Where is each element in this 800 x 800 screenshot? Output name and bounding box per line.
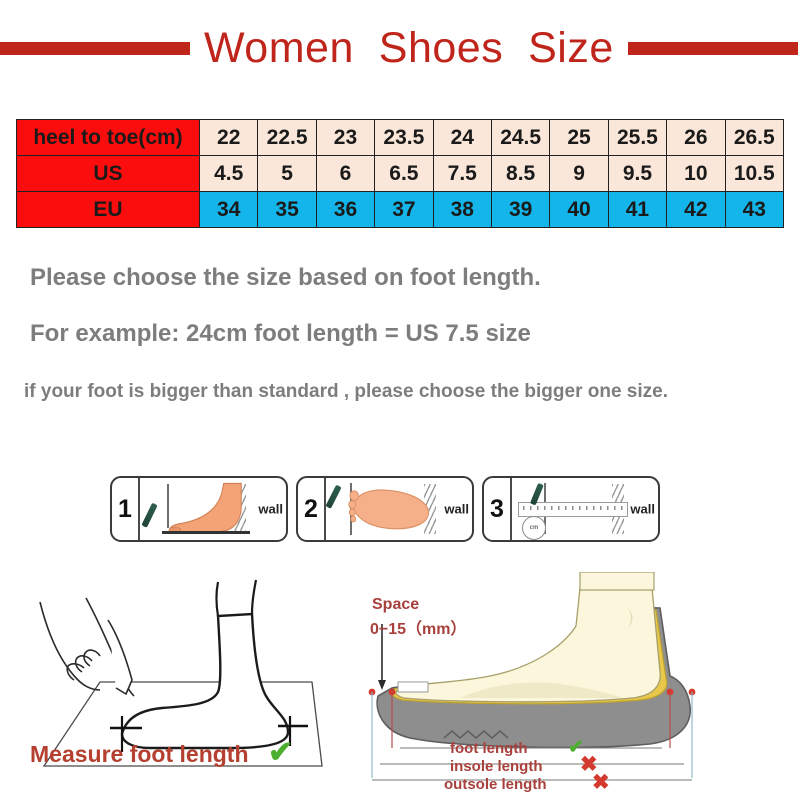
step-panel-1: 1 wall xyxy=(110,476,288,542)
cell-us-8: 10 xyxy=(667,156,725,192)
label-outsole-length: outsole length xyxy=(444,776,547,793)
cell-heel-to-toe-9: 26.5 xyxy=(725,120,783,156)
check-icon: ✔ xyxy=(268,735,293,770)
table-row: EU 34 35 36 37 38 39 40 41 42 43 xyxy=(17,192,784,228)
title-rule-left xyxy=(0,42,190,55)
cell-eu-0: 34 xyxy=(200,192,258,228)
page-title: Women Shoes Size xyxy=(190,27,628,70)
foot-outline xyxy=(122,614,288,748)
cell-heel-to-toe-2: 23 xyxy=(316,120,374,156)
cell-heel-to-toe-4: 24 xyxy=(433,120,491,156)
cell-heel-to-toe-5: 24.5 xyxy=(491,120,549,156)
step-3-illustration: cm wall xyxy=(512,478,658,540)
row-label-us: US xyxy=(17,156,200,192)
finger xyxy=(84,650,100,666)
cell-heel-to-toe-1: 22.5 xyxy=(258,120,316,156)
measure-foot-caption: Measure foot length xyxy=(30,741,249,768)
cell-eu-5: 39 xyxy=(491,192,549,228)
leg-shape xyxy=(580,572,654,590)
row-label-eu: EU xyxy=(17,192,200,228)
space-arrow-head xyxy=(378,680,386,690)
cell-us-3: 6.5 xyxy=(375,156,433,192)
wall-label-3: wall xyxy=(630,502,655,517)
step-number-1: 1 xyxy=(112,478,140,540)
note-bigger-size: if your foot is bigger than standard , p… xyxy=(24,381,668,403)
cell-eu-8: 42 xyxy=(667,192,725,228)
cell-us-5: 8.5 xyxy=(491,156,549,192)
table-row: US 4.5 5 6 6.5 7.5 8.5 9 9.5 10 10.5 xyxy=(17,156,784,192)
size-chart-table: heel to toe(cm) 22 22.5 23 23.5 24 24.5 … xyxy=(16,119,784,228)
step-number-3: 3 xyxy=(484,478,512,540)
step-panel-2: 2 wall xyxy=(296,476,474,542)
step-number-2: 2 xyxy=(298,478,326,540)
ruler-ticks xyxy=(523,506,623,510)
wall-label-1: wall xyxy=(258,502,283,517)
cell-eu-4: 38 xyxy=(433,192,491,228)
cell-us-0: 4.5 xyxy=(200,156,258,192)
cell-eu-7: 41 xyxy=(608,192,666,228)
measure-steps: 1 wall 2 wal xyxy=(110,476,660,542)
cell-us-4: 7.5 xyxy=(433,156,491,192)
toe-gap xyxy=(398,682,428,692)
ankle-line xyxy=(217,582,219,616)
wall-label-2: wall xyxy=(444,502,469,517)
label-insole-length: insole length xyxy=(450,758,543,775)
cell-heel-to-toe-7: 25.5 xyxy=(608,120,666,156)
table-row: heel to toe(cm) 22 22.5 23 23.5 24 24.5 … xyxy=(17,120,784,156)
space-label-line2: 0−15（mm） xyxy=(370,615,467,639)
step-2-illustration: wall xyxy=(326,478,472,540)
measurement-badge: cm xyxy=(522,516,546,540)
space-label-line1: Space xyxy=(372,596,419,614)
cell-us-2: 6 xyxy=(316,156,374,192)
cell-eu-2: 36 xyxy=(316,192,374,228)
page-title-band: Women Shoes Size xyxy=(0,22,800,74)
cell-heel-to-toe-0: 22 xyxy=(200,120,258,156)
title-rule-right xyxy=(628,42,798,55)
cell-eu-9: 43 xyxy=(725,192,783,228)
step-1-illustration: wall xyxy=(140,478,286,540)
floor-line xyxy=(162,531,250,534)
label-foot-length: foot length xyxy=(450,740,527,757)
step-panel-3: 3 cm wall xyxy=(482,476,660,542)
cross-icon: ✖ xyxy=(592,770,610,795)
row-label-heel-to-toe: heel to toe(cm) xyxy=(17,120,200,156)
ankle-line xyxy=(252,580,256,614)
shoe-cross-section-diagram: Space 0−15（mm） foot length ✔ insole leng… xyxy=(340,572,800,800)
note-example: For example: 24cm foot length = US 7.5 s… xyxy=(30,320,531,348)
cell-heel-to-toe-3: 23.5 xyxy=(375,120,433,156)
cell-us-7: 9.5 xyxy=(608,156,666,192)
cell-us-9: 10.5 xyxy=(725,156,783,192)
cell-heel-to-toe-6: 25 xyxy=(550,120,608,156)
cell-eu-3: 37 xyxy=(375,192,433,228)
cell-us-6: 9 xyxy=(550,156,608,192)
note-choose-size: Please choose the size based on foot len… xyxy=(30,264,541,292)
cell-us-1: 5 xyxy=(258,156,316,192)
cell-eu-1: 35 xyxy=(258,192,316,228)
cell-heel-to-toe-8: 26 xyxy=(667,120,725,156)
cell-eu-6: 40 xyxy=(550,192,608,228)
